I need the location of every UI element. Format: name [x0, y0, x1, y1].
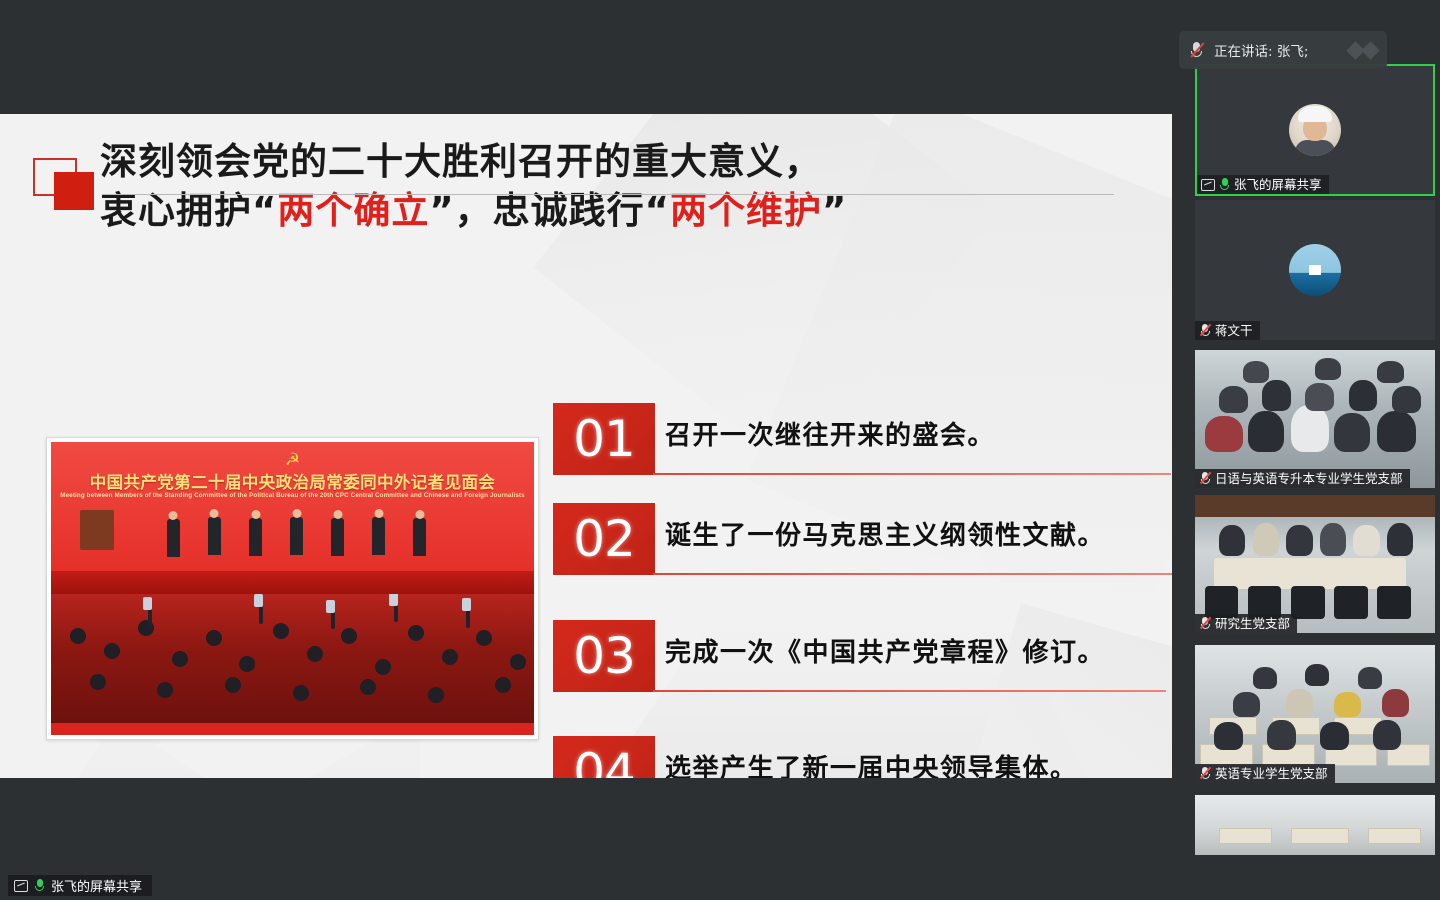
screen-share-badge: 张飞的屏幕共享 — [8, 875, 152, 896]
title-highlight-2: 两个维护 — [670, 189, 822, 232]
chevron-diamond-icon — [1349, 44, 1377, 57]
participant-tile-partial[interactable] — [1195, 795, 1435, 900]
title-line2-part-c: ” — [822, 189, 847, 232]
item-text: 完成一次《中国共产党章程》修订。 — [665, 632, 1135, 669]
slide-photo: ☭ 中国共产党第二十届中央政治局常委同中外记者见面会 Meeting betwe… — [46, 437, 539, 740]
avatar — [1289, 104, 1341, 156]
title-divider — [102, 194, 1114, 195]
title-line2-part-b: ”，忠诚践行“ — [429, 189, 670, 232]
photo-banner-title: 中国共产党第二十届中央政治局常委同中外记者见面会 — [51, 469, 534, 493]
participant-tile-graduate-branch[interactable]: 研究生党支部 — [1195, 495, 1435, 633]
presentation-slide: 深刻领会党的二十大胜利召开的重大意义， 衷心拥护“两个确立”，忠诚践行“两个维护… — [0, 114, 1172, 778]
mic-on-icon — [34, 879, 45, 893]
photo-leaders-row — [51, 501, 534, 571]
slide-title-line-1: 深刻领会党的二十大胜利召开的重大意义， — [100, 138, 1140, 187]
tile-label-text: 张飞的屏幕共享 — [1234, 175, 1322, 194]
tile-label: 英语专业学生党支部 — [1195, 764, 1335, 783]
video-feed — [1195, 645, 1435, 783]
item-number: 03 — [553, 620, 655, 692]
podium — [80, 510, 114, 550]
title-highlight-1: 两个确立 — [277, 189, 429, 232]
screen-share-icon — [14, 880, 28, 892]
red-square-logo-icon — [33, 158, 95, 210]
photo-stage-edge — [51, 571, 534, 594]
photo-footer-band — [51, 723, 534, 735]
share-badge-label: 张飞的屏幕共享 — [51, 876, 142, 895]
mic-on-icon — [1219, 178, 1230, 192]
video-feed — [1195, 495, 1435, 633]
screen-share-icon — [1201, 179, 1215, 191]
item-underline — [653, 573, 1172, 575]
title-line2-part-a: 衷心拥护“ — [100, 189, 277, 232]
participant-tile-jiangwengan[interactable]: 蒋文干 — [1195, 200, 1435, 340]
photo-banner-subtitle: Meeting between Members of the Standing … — [51, 492, 534, 499]
tile-label: 张飞的屏幕共享 — [1197, 175, 1329, 194]
tile-label: 研究生党支部 — [1195, 614, 1297, 633]
tile-label-text: 英语专业学生党支部 — [1215, 764, 1328, 783]
shared-screen-stage[interactable]: 深刻领会党的二十大胜利召开的重大意义， 衷心拥护“两个确立”，忠诚践行“两个维护… — [0, 0, 1190, 900]
tile-label-text: 研究生党支部 — [1215, 614, 1290, 633]
tile-label-text: 蒋文干 — [1215, 321, 1253, 340]
participants-sidebar[interactable]: 张飞的屏幕共享 蒋文干 日语与英 — [1190, 0, 1440, 900]
item-underline — [653, 690, 1166, 692]
photo-crowd — [51, 594, 534, 723]
item-underline — [653, 473, 1171, 475]
item-number: 02 — [553, 503, 655, 575]
tile-label-text: 日语与英语专升本专业学生党支部 — [1215, 469, 1403, 488]
video-feed — [1195, 350, 1435, 488]
tile-label: 蒋文干 — [1195, 321, 1260, 340]
speaking-banner-text: 正在讲话: 张飞; — [1214, 40, 1308, 60]
participant-tile-japanese-english-branch[interactable]: 日语与英语专升本专业学生党支部 — [1195, 350, 1435, 488]
cpc-emblem-icon: ☭ — [285, 451, 300, 468]
item-text: 诞生了一份马克思主义纲领性文献。 — [665, 515, 1135, 552]
item-text: 召开一次继往开来的盛会。 — [665, 415, 1135, 452]
participant-tile-english-branch[interactable]: 英语专业学生党支部 — [1195, 645, 1435, 783]
tile-empty-area — [1195, 855, 1435, 900]
mic-muted-icon — [1199, 617, 1211, 630]
participant-tile-zhangfei[interactable]: 张飞的屏幕共享 — [1195, 64, 1435, 196]
item-number: 01 — [553, 403, 655, 475]
avatar — [1289, 244, 1341, 296]
mic-muted-icon — [1199, 472, 1211, 485]
mic-muted-icon — [1199, 767, 1211, 780]
video-feed — [1195, 795, 1435, 855]
tile-label: 日语与英语专升本专业学生党支部 — [1195, 469, 1410, 488]
mic-muted-icon — [1189, 41, 1204, 60]
mic-muted-icon — [1199, 324, 1211, 337]
item-text: 选举产生了新一届中央领导集体。 — [665, 748, 1135, 778]
item-number: 04 — [553, 736, 655, 778]
speaking-banner: 正在讲话: 张飞; — [1179, 31, 1387, 69]
